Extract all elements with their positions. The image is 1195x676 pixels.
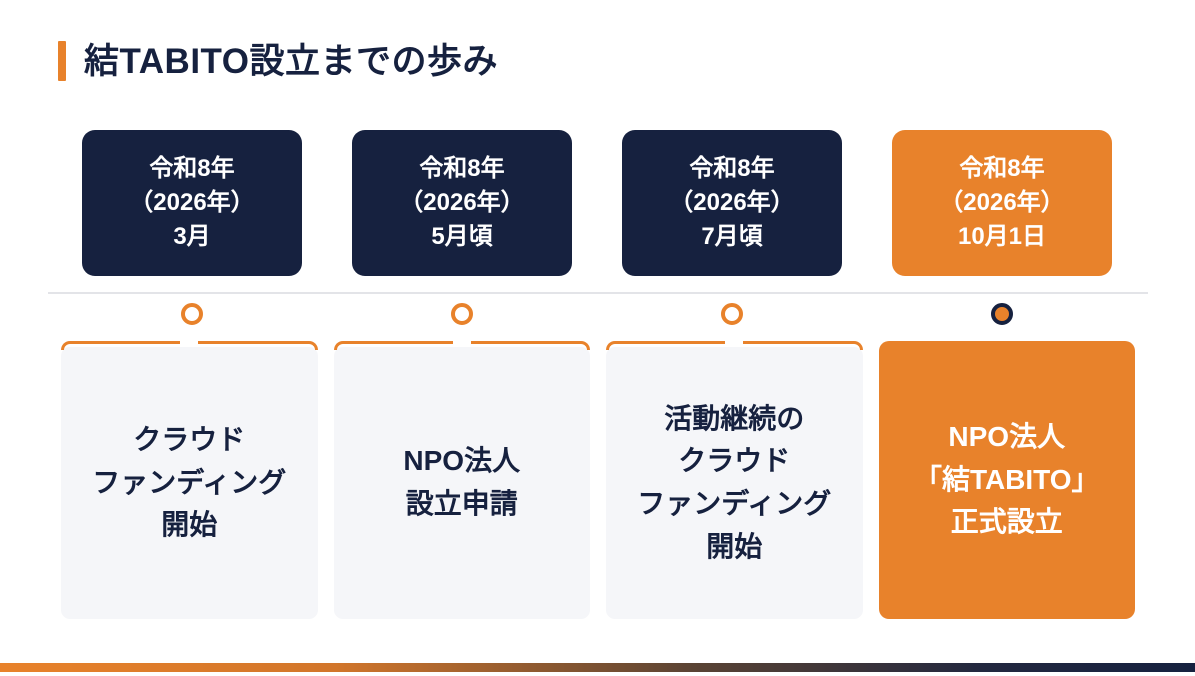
date-card-4-year: 令和8年 [959,152,1044,186]
content-card-3-line-4: 開始 [637,526,831,569]
timeline-date-row: 令和8年 （2026年） 3月 令和8年 （2026年） 5月頃 令和8年 （2… [82,130,1113,276]
date-card-1-year: 令和8年 [149,152,234,186]
card-top-accent-3 [606,341,863,350]
card-top-accent-2 [334,341,591,350]
content-card-2-line-2: 設立申請 [403,483,520,526]
content-card-1-line-2: ファンディング [92,462,286,505]
content-card-3-line-2: クラウド [637,440,831,483]
content-card-3-line-1: 活動継続の [637,398,831,441]
content-card-4-text: NPO法人 「結TABITO」 正式設立 [914,416,1100,544]
content-card-4[interactable]: NPO法人 「結TABITO」 正式設立 [879,341,1136,619]
date-card-2-year: 令和8年 [419,152,504,186]
date-card-2[interactable]: 令和8年 （2026年） 5月頃 [352,130,572,276]
date-card-1-gregorian: （2026年） [129,186,254,220]
timeline-content-row: クラウド ファンディング 開始 NPO法人 設立申請 活動継続の クラウド ファ… [61,341,1135,619]
ring-marker-icon-1[interactable] [181,303,203,325]
ring-marker-icon-3[interactable] [721,303,743,325]
title-accent-bar [58,41,66,81]
content-card-1-line-3: 開始 [92,504,286,547]
marker-cell-4 [892,301,1112,327]
card-top-accent-1 [61,341,318,350]
content-card-2-line-1: NPO法人 [403,440,520,483]
content-card-4-line-2: 「結TABITO」 [914,459,1100,502]
date-card-4-gregorian: （2026年） [939,186,1064,220]
date-card-4-month: 10月1日 [958,220,1046,254]
timeline-axis-line [48,292,1148,294]
page-title: 結TABITO設立までの歩み [84,44,498,79]
date-card-2-gregorian: （2026年） [399,186,524,220]
content-card-2[interactable]: NPO法人 設立申請 [334,347,591,619]
footer-gradient-bar [0,663,1195,672]
filled-dot-marker-icon-4[interactable] [991,303,1013,325]
date-card-3-gregorian: （2026年） [669,186,794,220]
content-card-3[interactable]: 活動継続の クラウド ファンディング 開始 [606,347,863,619]
content-card-1[interactable]: クラウド ファンディング 開始 [61,347,318,619]
content-card-3-line-3: ファンディング [637,483,831,526]
content-card-1-line-1: クラウド [92,419,286,462]
timeline-marker-row [82,301,1113,327]
date-card-3[interactable]: 令和8年 （2026年） 7月頃 [622,130,842,276]
date-card-1[interactable]: 令和8年 （2026年） 3月 [82,130,302,276]
page-title-row: 結TABITO設立までの歩み [58,38,498,84]
date-card-4[interactable]: 令和8年 （2026年） 10月1日 [892,130,1112,276]
content-card-2-text: NPO法人 設立申請 [403,440,520,525]
date-card-2-month: 5月頃 [431,220,492,254]
content-card-4-line-1: NPO法人 [914,416,1100,459]
content-card-4-line-3: 正式設立 [914,501,1100,544]
ring-marker-icon-2[interactable] [451,303,473,325]
date-card-3-month: 7月頃 [701,220,762,254]
marker-cell-1 [82,301,302,327]
date-card-3-year: 令和8年 [689,152,774,186]
content-card-1-text: クラウド ファンディング 開始 [92,419,286,547]
content-card-3-text: 活動継続の クラウド ファンディング 開始 [637,398,831,568]
marker-cell-2 [352,301,572,327]
marker-cell-3 [622,301,842,327]
date-card-1-month: 3月 [173,220,210,254]
